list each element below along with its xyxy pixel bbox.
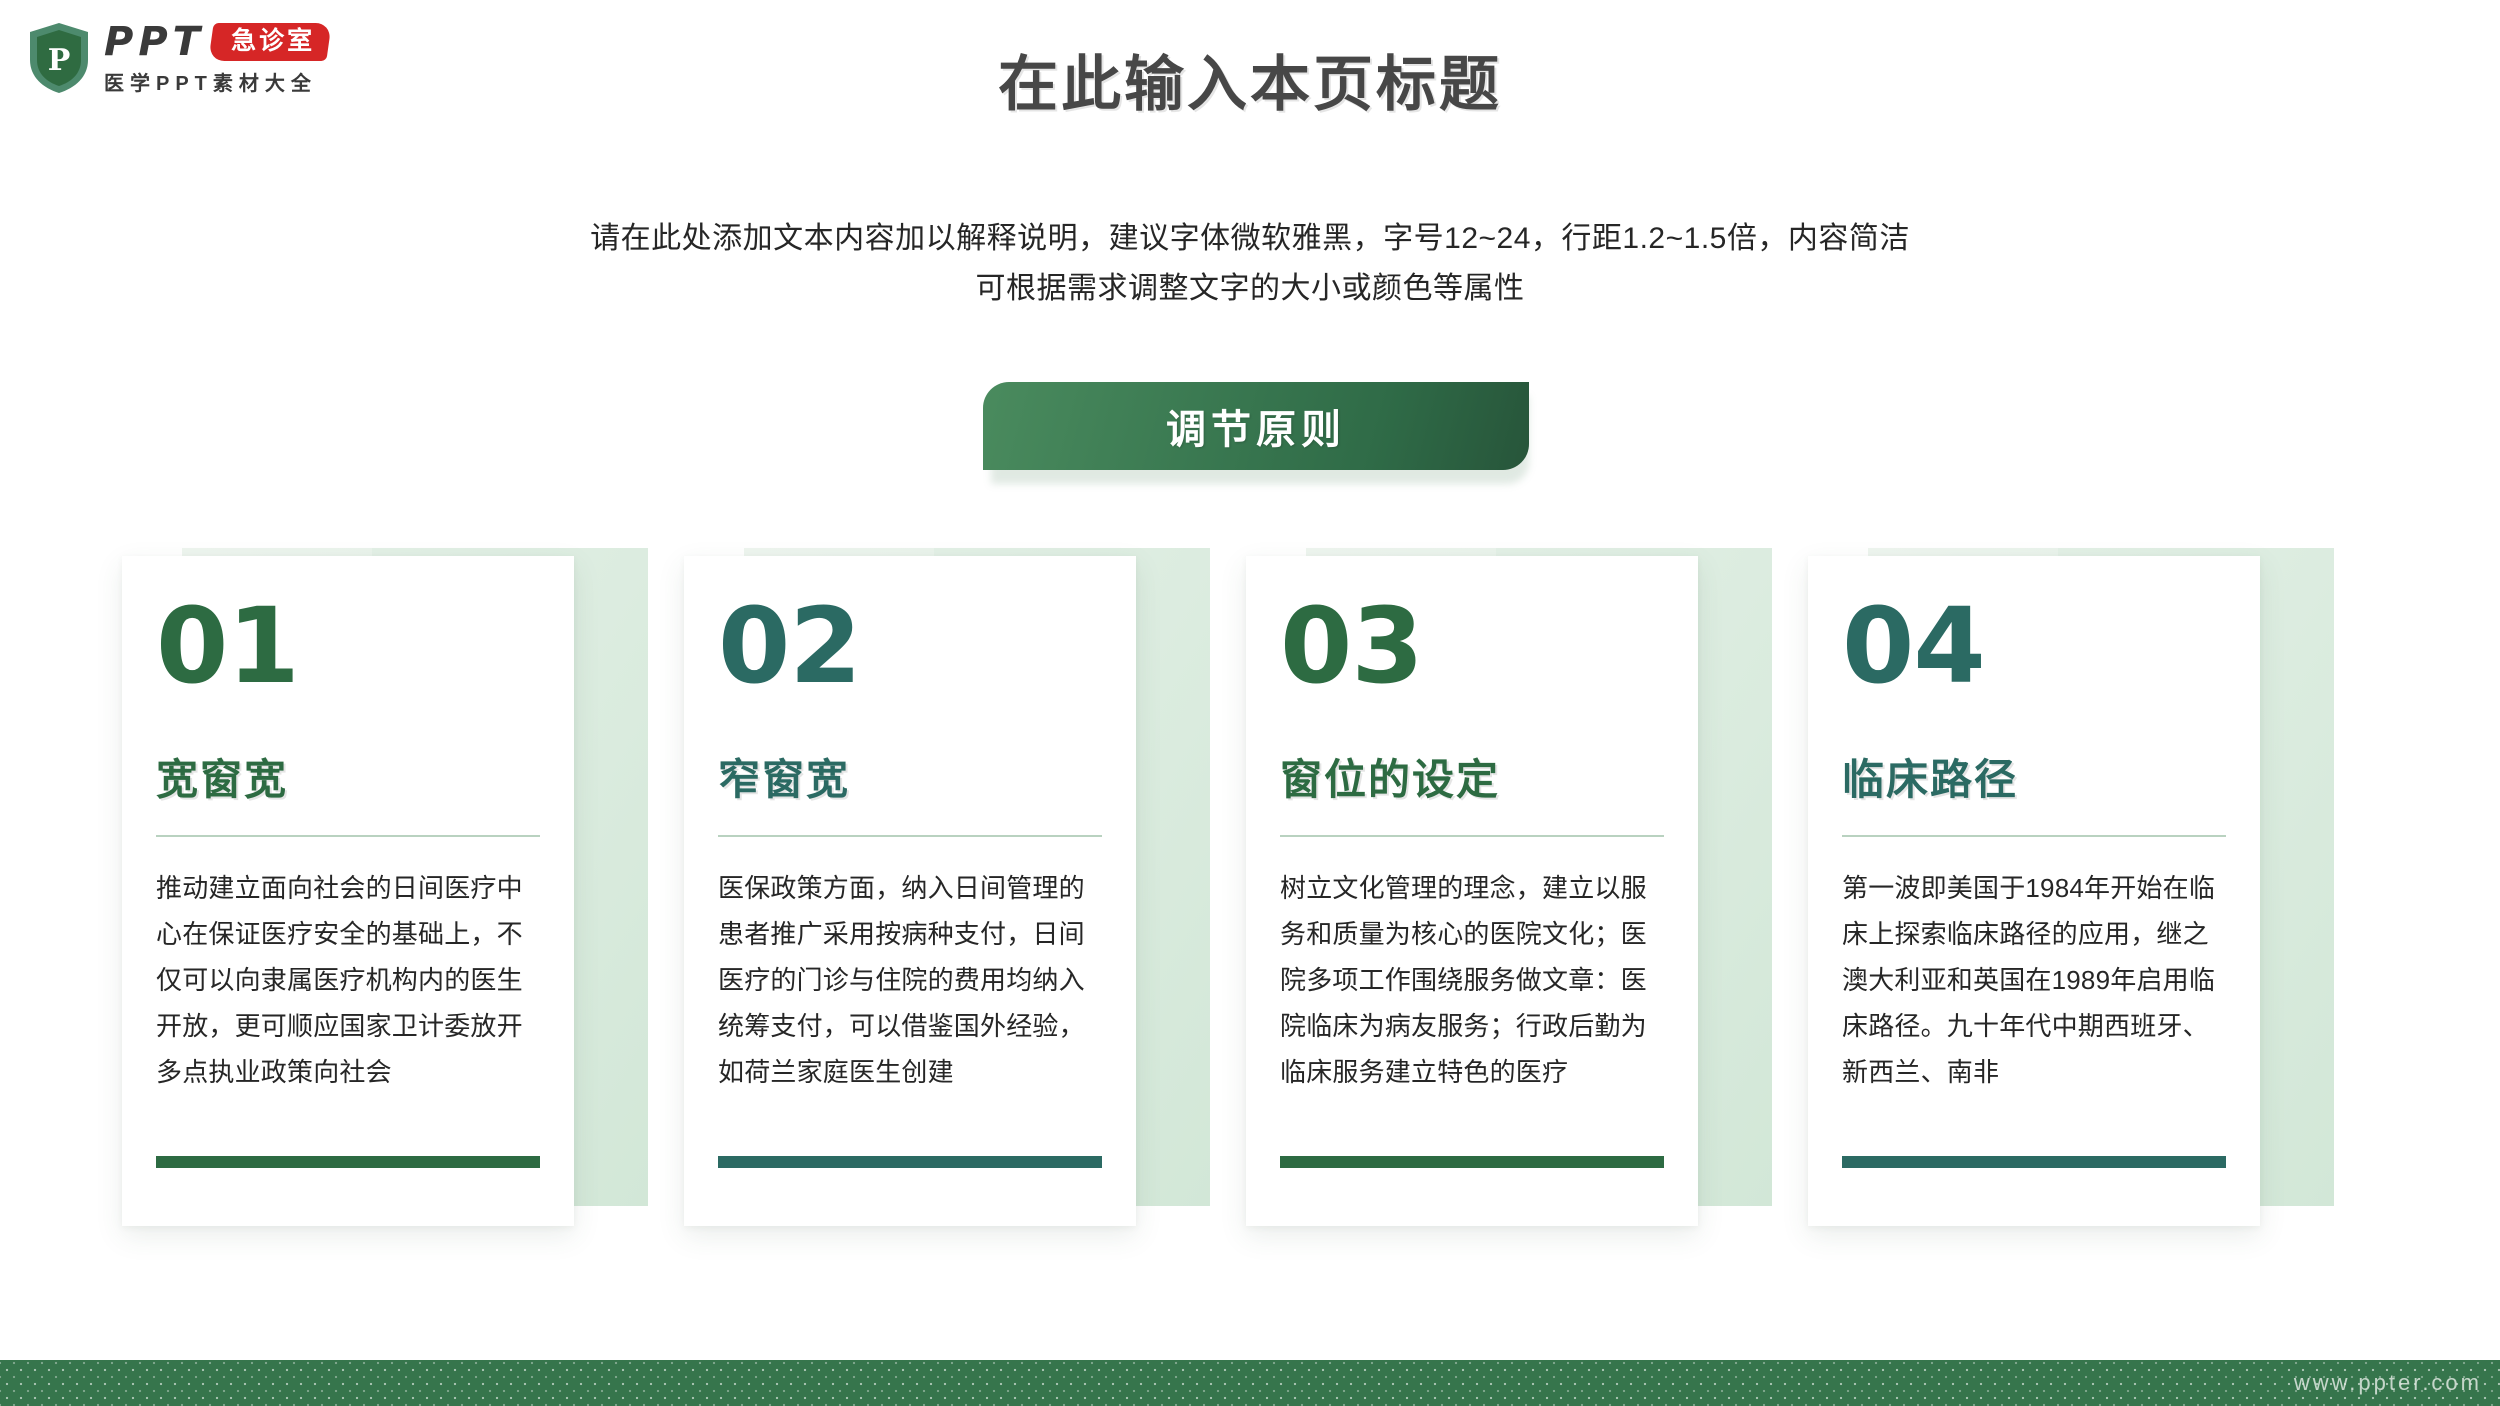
card-text: 医保政策方面，纳入日间管理的患者推广采用按病种支付，日间医疗的门诊与住院的费用均… [718, 865, 1102, 1095]
page-title: 在此输入本页标题 [0, 36, 2500, 123]
subtitle-line-2: 可根据需求调整文字的大小或颜色等属性 [0, 264, 2500, 314]
card-bottom-bar [156, 1156, 540, 1168]
card-title: 窄窗宽 [718, 746, 1102, 807]
card-body: 02 窄窗宽 医保政策方面，纳入日间管理的患者推广采用按病种支付，日间医疗的门诊… [684, 556, 1136, 1226]
card-bottom-bar [1280, 1156, 1664, 1168]
card-number: 01 [156, 594, 540, 698]
card-text: 第一波即美国于1984年开始在临床上探索临床路径的应用，继之澳大利亚和英国在19… [1842, 865, 2226, 1095]
banner-plate: 调节原则 [983, 382, 1529, 470]
section-banner: 调节原则 [983, 382, 1543, 500]
card-bottom-bar [1842, 1156, 2226, 1168]
card-divider [1842, 835, 2226, 837]
card-title: 宽窗宽 [156, 746, 540, 807]
card-divider [156, 835, 540, 837]
card-divider [718, 835, 1102, 837]
card-01[interactable]: 01 宽窗宽 推动建立面向社会的日间医疗中心在保证医疗安全的基础上，不仅可以向隶… [122, 556, 646, 1248]
card-03[interactable]: 03 窗位的设定 树立文化管理的理念，建立以服务和质量为核心的医院文化；医院多项… [1246, 556, 1770, 1248]
card-number: 02 [718, 594, 1102, 698]
card-title: 临床路径 [1842, 746, 2226, 807]
card-body: 04 临床路径 第一波即美国于1984年开始在临床上探索临床路径的应用，继之澳大… [1808, 556, 2260, 1226]
footer-url: www.ppter.com [2294, 1370, 2500, 1396]
card-text: 树立文化管理的理念，建立以服务和质量为核心的医院文化；医院多项工作围绕服务做文章… [1280, 865, 1664, 1095]
card-grid: 01 宽窗宽 推动建立面向社会的日间医疗中心在保证医疗安全的基础上，不仅可以向隶… [122, 556, 2378, 1256]
card-04[interactable]: 04 临床路径 第一波即美国于1984年开始在临床上探索临床路径的应用，继之澳大… [1808, 556, 2332, 1248]
banner-label: 调节原则 [1166, 397, 1346, 455]
card-title: 窗位的设定 [1280, 746, 1664, 807]
card-number: 04 [1842, 594, 2226, 698]
page-subtitle: 请在此处添加文本内容加以解释说明，建议字体微软雅黑，字号12~24，行距1.2~… [0, 214, 2500, 314]
card-bottom-bar [718, 1156, 1102, 1168]
card-body: 01 宽窗宽 推动建立面向社会的日间医疗中心在保证医疗安全的基础上，不仅可以向隶… [122, 556, 574, 1226]
card-divider [1280, 835, 1664, 837]
footer-strip: www.ppter.com [0, 1360, 2500, 1406]
card-number: 03 [1280, 594, 1664, 698]
card-text: 推动建立面向社会的日间医疗中心在保证医疗安全的基础上，不仅可以向隶属医疗机构内的… [156, 865, 540, 1095]
card-body: 03 窗位的设定 树立文化管理的理念，建立以服务和质量为核心的医院文化；医院多项… [1246, 556, 1698, 1226]
subtitle-line-1: 请在此处添加文本内容加以解释说明，建议字体微软雅黑，字号12~24，行距1.2~… [0, 214, 2500, 264]
card-02[interactable]: 02 窄窗宽 医保政策方面，纳入日间管理的患者推广采用按病种支付，日间医疗的门诊… [684, 556, 1208, 1248]
